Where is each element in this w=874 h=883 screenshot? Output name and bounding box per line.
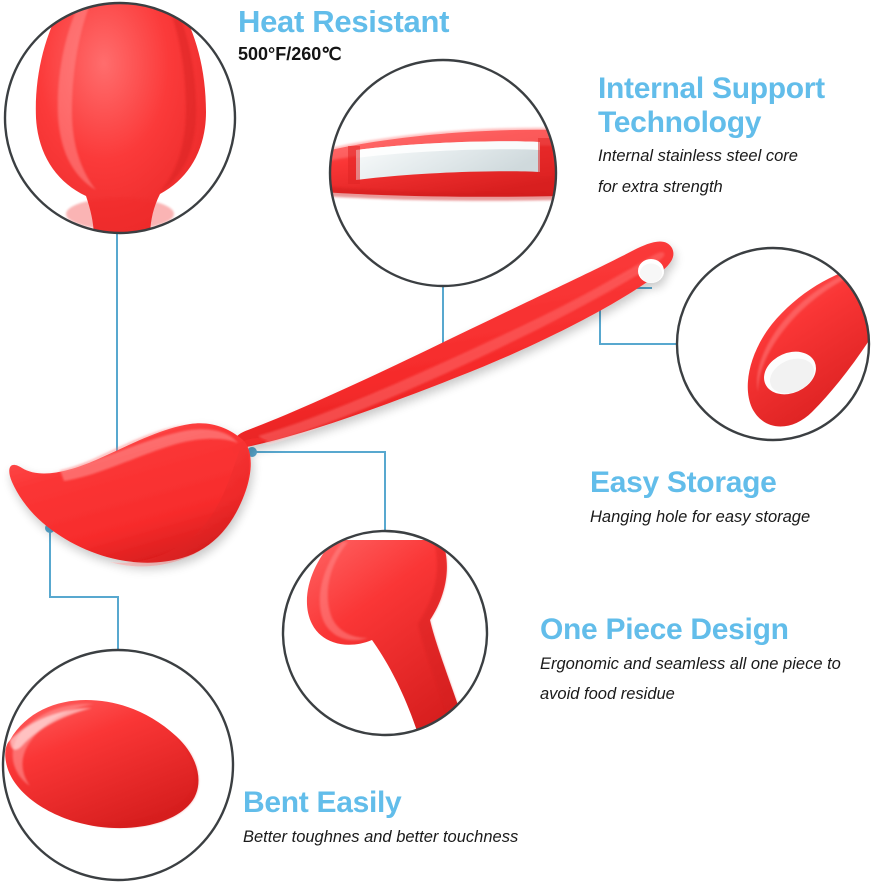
spatula-product [9, 242, 673, 567]
callout-hanging-hole [676, 247, 874, 443]
feature-bent-easily: Bent Easily Better toughnes and better t… [243, 786, 663, 852]
callout-circle-outline [3, 650, 233, 880]
connector-dot-easy-storage [646, 270, 656, 280]
feature-description-easy-storage: Hanging hole for easy storage [590, 502, 874, 533]
spatula-blade-lip [22, 425, 188, 474]
spatula-blade-shade [110, 440, 249, 566]
callout-bent-head [0, 648, 236, 883]
spatula-blade [9, 423, 251, 562]
feature-title-bent-easily: Bent Easily [243, 786, 663, 820]
spatula-neck [232, 438, 268, 454]
feature-internal-support: Internal Support Technology Internal sta… [598, 72, 874, 202]
callout-circle-outline [5, 3, 235, 233]
connector-lines [50, 233, 676, 650]
spatula-handle [234, 242, 674, 450]
connector-dot-one-piece [247, 447, 257, 457]
feature-title-easy-storage: Easy Storage [590, 466, 874, 500]
feature-easy-storage: Easy Storage Hanging hole for easy stora… [590, 466, 874, 532]
steel-core-strip [356, 141, 540, 180]
callout-circle-outline [283, 531, 487, 735]
feature-description-bent-easily: Better toughnes and better touchness [243, 822, 663, 853]
callout-steel-core [322, 58, 560, 288]
connector-dot-internal-support [438, 353, 448, 363]
spatula-hanging-hole-inner-shade [640, 264, 662, 283]
connector-dots [45, 270, 656, 533]
callout-circle-outline [677, 248, 869, 440]
callout-one-piece [280, 528, 490, 740]
spatula-blade-highlight [60, 429, 238, 481]
feature-description-one-piece-design: Ergonomic and seamless all one piece to … [540, 649, 874, 710]
hanging-hole-opening [757, 344, 823, 403]
connector-easy-storage [600, 288, 676, 344]
spatula-handle-highlight [258, 252, 664, 443]
callout-circle-outline [330, 60, 556, 286]
feature-title-internal-support: Internal Support Technology [598, 72, 874, 139]
feature-subtitle-temperature: 500°F/260℃ [238, 43, 449, 66]
connector-one-piece [252, 452, 385, 531]
feature-title-heat-resistant: Heat Resistant [238, 5, 449, 40]
feature-title-one-piece-design: One Piece Design [540, 613, 874, 647]
callout-spatula-head [4, 0, 236, 240]
spatula-hanging-hole [638, 259, 664, 283]
feature-one-piece-design: One Piece Design Ergonomic and seamless … [540, 613, 874, 710]
feature-description-internal-support: Internal stainless steel core for extra … [598, 141, 874, 202]
connector-bent-easily [50, 528, 118, 650]
product-feature-infographic: Heat Resistant 500°F/260℃ Internal Suppo… [0, 0, 874, 883]
connector-dot-heat-resistant [112, 487, 122, 497]
feature-heat-resistant: Heat Resistant 500°F/260℃ [238, 5, 449, 66]
connector-dot-bent-easily [45, 523, 55, 533]
